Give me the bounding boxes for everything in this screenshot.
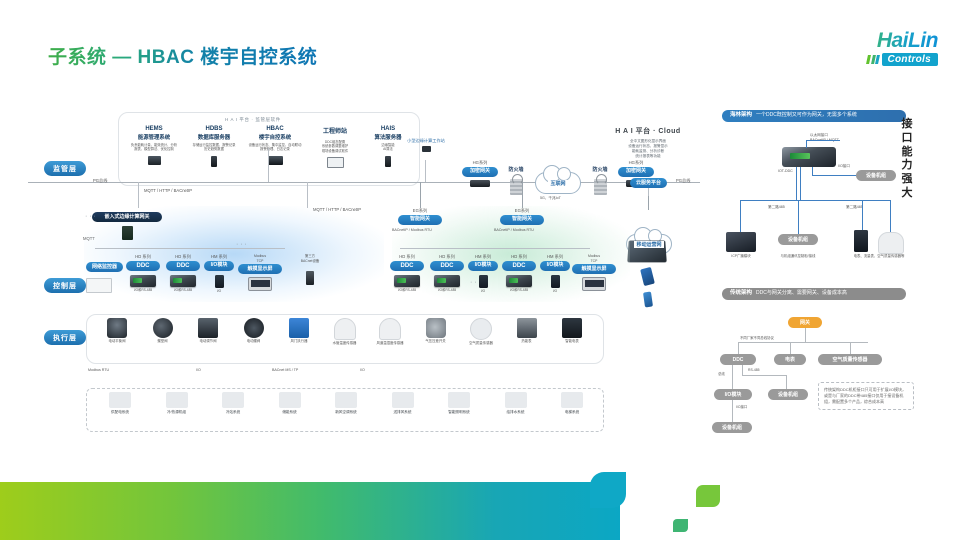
rb-line-unit2 [732,400,733,422]
air-quality-device-icon [878,232,904,254]
control-valve-icon [198,318,218,338]
heat-meter-icon [517,318,537,338]
bottom-gradient-bar [0,482,620,540]
system-item-4[interactable]: 新风空调系统 [318,392,374,415]
io-label-1: I/O模块 [204,261,234,271]
device-unit-node-trad-1: 设备机组 [768,389,808,400]
hd-series-5: HD 系列 [502,254,536,260]
monitor-icon [268,156,283,165]
ddc-label-3: DDC [390,261,424,271]
system-label-3: 储能系统 [262,410,318,415]
system-label-8: 电梯系统 [544,410,600,415]
bacnet-mstp-label: BACnet MS / TP [272,368,298,373]
logo-bars-icon [867,55,879,64]
system-item-2[interactable]: 冷站系统 [205,392,261,415]
duct-temp-sensor-icon [379,318,401,340]
traditional-arch-title: 传统架构 [730,290,752,296]
ddc-node-traditional: DDC [720,354,756,365]
execution-device-2[interactable]: 电动调节阀 [183,318,233,344]
system-label-0: 供配电系统 [92,410,148,415]
damper-actuator-icon [289,318,309,338]
edge-workstation-label: 小型边缘计算工作站 [403,138,449,143]
execution-device-label-8: 空气质量传感器 [456,341,506,346]
controller-box-icon [86,278,112,293]
server-icon [148,156,161,165]
execution-device-6[interactable]: 风道温湿度传感器 [365,318,415,346]
ddc-bus-2: I/O和RS-485 [166,288,200,292]
execution-device-label-5: 水管温度传感器 [320,341,370,346]
ddc-label-1: DDC [126,261,160,271]
icp-broadcast-label: ICP广播模块 [714,254,768,259]
encryption-gateway-left-label: 加密网关 [462,167,498,177]
eg2-uplink [522,182,523,208]
eg1-uplink [420,182,421,208]
rt-line-eth-h [806,140,840,141]
system-item-5[interactable]: 送排风系统 [375,392,431,415]
third-party-label: 第三方 BACnet设备 [292,254,328,263]
modbus-rtu-label: Modbus RTU [88,368,109,373]
ddc-node-3[interactable]: HD 系列 DDC I/O和RS-485 [390,254,424,292]
ahu-icon [335,392,357,408]
meter-device-icon [854,230,868,252]
valve-icon [107,318,127,338]
cloud-platform-pill[interactable]: 云服务平台 [630,178,667,188]
hm-series-3: HM 系列 [540,254,570,260]
io-node-3[interactable]: HM 系列 I/O模块 I/O [540,254,570,293]
embedded-gateway-label: 嵌入式边缘计算网关 [92,212,162,222]
motor-valve-icon [244,318,264,338]
ddc-bus-4: I/O和RS-485 [430,288,464,292]
supervision-panel-header: H A I 平台 · 监管层软件 [225,117,281,123]
system-label-5: 送排风系统 [375,410,431,415]
system-item-6[interactable]: 智能照明系统 [431,392,487,415]
rt-line-io-h [812,175,856,176]
execution-device-1[interactable]: 蝶型阀 [138,318,188,344]
card-hdbs-desc: 存储运行监控数据、报警记录 历史趋势数据 [184,143,244,152]
firewall-right: 防火墙 [584,166,616,195]
card-hems[interactable]: HEMS 能源管理系统 负责能耗计量、能效统计、分析 报表、模型算法、优化控制 [124,126,184,165]
touchscreen-label-2: 触摸显示屏 [572,264,616,274]
pc-bus-label-left: PG总线 [93,178,107,184]
system-label-7: 给排水系统 [488,410,544,415]
hm-series-1: HM 系列 [204,254,234,260]
internet-label: 互联网 [548,180,567,187]
ddc-device-icon-5 [506,275,532,287]
execution-device-label-6: 风道温湿度传感器 [365,341,415,346]
power-supply-icon [109,392,131,408]
card-engineer-desc: DDC组态配置 系统参数调整维护 现场设备调试软件 [306,140,364,153]
io-label-2: I/O模块 [468,261,498,271]
rt-line-leaf3 [862,200,863,234]
rb-line-485v [742,365,743,375]
rb-line-gw [805,328,806,342]
execution-device-label-7: 气压压差开关 [411,339,461,344]
layer-badge-execution: 执行层 [44,330,86,345]
control-branch-right [400,248,590,249]
phone-device-icon [643,292,653,308]
database-icon [211,156,217,167]
hailin-arch-desc: 一个DDC既控制又可作为网关，无需多个系统 [756,112,857,118]
internet-link-label: 5G、千兆IoT [540,196,561,201]
card-hems-name: 能源管理系统 [124,133,184,141]
ddc-node-2[interactable]: HD 系列 DDC I/O和RS-485 [166,254,200,292]
card-hdbs-code: HDBS [184,126,244,132]
deco-square-small [673,519,688,532]
third-party-node[interactable]: 第三方 BACnet设备 [292,254,328,285]
pressure-switch-icon [426,318,446,338]
butterfly-valve-icon [153,318,173,338]
ddc-bus-1: I/O和RS-485 [126,288,160,292]
gateway-node: 网关 [788,317,822,328]
iot-ddc-product-label: IOT-DDC [778,169,793,174]
system-label-6: 智能照明系统 [431,410,487,415]
io-bus-label: I/O [196,368,201,373]
icp-broadcast-icon [726,232,756,252]
encryption-gateway-right-label: 加密网关 [618,167,654,177]
io-module-node: I/O模块 [714,389,752,400]
execution-device-8[interactable]: 空气质量传感器 [456,318,506,346]
io-device-icon-2 [479,275,488,288]
meters-sensors-label: 电表、流量表、空气质量传感器等 [836,254,922,259]
system-label-1: 冷/热源机组 [149,410,205,415]
card-hbac-desc: 设备运行状态、集中监控、自动联动 报警管理、日志记录 [244,143,306,152]
ddc-node-5[interactable]: HD 系列 DDC I/O和RS-485 [502,254,536,292]
edge-device-icon [422,146,431,152]
ddc-label-2: DDC [166,261,200,271]
chiller-icon [166,392,188,408]
card-hbac-name: 楼宇自控系统 [244,133,306,141]
ddc-bus-5: I/O和RS-485 [502,288,536,292]
hg-series-right: HG系列 [618,160,654,166]
device-unit-node-top: 设备机组 [856,170,896,181]
io-bus-label-2: I/O [360,368,365,373]
water-temp-sensor-icon [334,318,356,340]
lighting-icon [448,392,470,408]
hd-series-1: HD 系列 [126,254,160,260]
execution-device-10[interactable]: 智能电表 [547,318,597,344]
iot-ddc-eth-iface: 以太网接口 BACnetIP / MQTT [810,133,839,143]
card-hems-code: HEMS [124,126,184,132]
io-node-1[interactable]: HM 系列 I/O模块 I/O [204,254,234,293]
io-label-3: I/O模块 [540,261,570,271]
execution-device-4[interactable]: 风门执行器 [274,318,324,344]
rb-line-485h [742,375,786,376]
io-node-2[interactable]: HM 系列 I/O模块 I/O [468,254,498,293]
hai-cloud-block: H A I 平台 · Cloud 全中文图形化显示界面 设备运行状态、报警显示 … [600,126,696,158]
execution-device-5[interactable]: 水管温度传感器 [320,318,370,346]
hg-series-left: HG系列 [462,160,498,166]
traditional-note-box: 传统架构DDC机柜接口只可用于扩展I/O模块，或是与厂家的DDC带485接口仅用… [818,382,914,410]
bus-drop-edge [425,160,426,182]
cloud-to-mobile-link [648,196,649,210]
modbus-tcp-1: Modbus TCP [238,254,282,263]
bus-io-label: 总线 [718,372,725,377]
device-unit-node-trad-2: 设备机组 [712,422,752,433]
energy-storage-icon [279,392,301,408]
meter-node: 电表 [774,354,806,365]
card-engineer-station[interactable]: 工程师站 DDC组态配置 系统参数调整维护 现场设备调试软件 [306,126,364,168]
iot-ddc-led-strip [790,153,810,159]
ai-server-icon [385,156,391,167]
system-item-7[interactable]: 给排水系统 [488,392,544,415]
slide-root: 子系统 — HBAC 楼宇自控系统 HaiLin Controls 监管层 控制… [0,0,960,540]
touchscreen-icon-1 [248,277,272,291]
io-device-icon-1 [215,275,224,288]
bus-485-label: RS-485 [748,368,760,373]
ddc-device-icon-1 [130,275,156,287]
execution-device-0[interactable]: 电动平衡阀 [92,318,142,344]
firewall-left: 防火墙 [500,166,532,195]
firewall-icon-right [594,179,607,195]
ddc-bus-3: I/O和RS-485 [390,288,424,292]
device-unit-node-mid: 设备机组 [778,234,818,245]
rb-line-io [732,365,733,389]
eg-protocol-1: BACnetIP / Modbus RTU [392,228,432,233]
card-hdbs-name: 数据库服务器 [184,133,244,141]
ddc-label-5: DDC [502,261,536,271]
elevator-icon [561,392,583,408]
rt-line-eth [806,140,807,148]
ddc-device-icon-2 [170,275,196,287]
hailin-arch-title: 海林架构 [730,112,752,118]
touchscreen-label-1: 触摸显示屏 [238,264,282,274]
ddc-device-icon-3 [394,275,420,287]
ddc-device-icon-4 [434,275,460,287]
touchscreen-node-2[interactable]: Modbus TCP 触摸显示屏 [572,254,616,291]
execution-device-label-0: 电动平衡阀 [92,339,142,344]
card-hems-desc: 负责能耗计量、能效统计、分析 报表、模型算法、优化控制 [124,143,184,152]
execution-device-label-4: 风门执行器 [274,339,324,344]
rb-line-h [738,342,868,343]
laptop-icon [327,157,344,168]
card-hbac-code: HBAC [244,126,306,132]
eg-gateway-1[interactable]: EG系列 智能网关 [398,208,442,225]
execution-device-label-9: 热能表 [502,339,552,344]
gateway-device-icon-left [470,180,490,187]
layer-badge-control: 控制层 [44,278,86,293]
smart-gateway-1-label: 智能网关 [398,215,442,225]
logo-wordmark: HaiLin [814,30,938,51]
smart-meter-icon [562,318,582,338]
bus-drop-left [138,182,139,208]
card-hais-code: HAIS [360,126,416,132]
ddc-node-4[interactable]: HD 系列 DDC I/O和RS-485 [430,254,464,292]
embedded-edge-gateway[interactable]: 嵌入式边缘计算网关 [92,212,162,240]
bus-io2-label: I/O接口 [736,405,747,410]
traditional-arch-desc: DDC与网关分离、需要网关、设备成本高 [756,290,847,296]
deco-square-large [696,485,720,507]
touchscreen-icon-2 [582,277,606,291]
system-item-1[interactable]: 冷/热源机组 [149,392,205,415]
eg-gateway-2[interactable]: EG系列 智能网关 [500,208,544,225]
rb-line-unit [786,375,787,389]
rt-line-leaf2 [798,200,799,234]
bus-drop-mid [307,182,308,208]
iot-ddc-io-iface: I/O接口 [838,164,850,169]
io-bus-2: I/O [468,289,498,293]
tablet-device-icon [640,267,655,286]
control-branch-left [95,248,285,249]
third-party-device-icon [306,271,314,285]
cold-station-icon [222,392,244,408]
execution-device-label-2: 电动调节阀 [183,339,233,344]
traditional-arch-header: 传统架构DDC与网关分离、需要网关、设备成本高 [722,288,906,300]
io-device-icon-3 [551,275,560,288]
system-item-0[interactable]: 供配电系统 [92,392,148,415]
rt-line-bus-v2 [800,167,801,200]
system-label-2: 冷站系统 [205,410,261,415]
system-label-4: 新风空调系统 [318,410,374,415]
ellipsis-left: · · · [85,212,96,221]
rb-line-meter [790,342,791,354]
hai-cloud-title: H A I 平台 · Cloud [600,126,696,136]
embedded-gateway-icon [122,226,133,240]
firewall-right-label: 防火墙 [584,166,616,173]
air-sensor-node: 空气质量传感器 [818,354,882,365]
modbus-tcp-2: Modbus TCP [572,254,616,263]
protocol-label-left: MQTT / HTTP / BACnetIP [144,188,192,194]
water-system-icon [505,392,527,408]
hd-series-2: HD 系列 [166,254,200,260]
hailin-logo: HaiLin Controls [814,30,938,74]
eg-protocol-2: BACnetIP / Modbus RTU [494,228,534,233]
ddc-node-1[interactable]: HD 系列 DDC I/O和RS-485 [126,254,160,292]
air-quality-sensor-icon [470,318,492,340]
deco-leaf-shape [590,472,626,508]
touchscreen-node-1[interactable]: Modbus TCP 触摸显示屏 [238,254,282,291]
hm-series-2: HM 系列 [468,254,498,260]
card-hdbs[interactable]: HDBS 数据库服务器 存储运行监控数据、报警记录 历史趋势数据 [184,126,244,167]
eg-series-1: EG系列 [398,208,442,214]
vertical-slogan: 接口能力强大 [900,118,914,201]
rt-line-bus-v [796,167,797,200]
net-controller-device [86,278,116,293]
eg-series-2: EG系列 [500,208,544,214]
rb-line-ddc [738,342,739,354]
hai-cloud-desc: 全中文图形化显示界面 设备运行状态、报警显示 能耗监测、分析诊断 统计报表等功能 [600,139,696,158]
layer-badge-supervision: 监管层 [44,161,86,176]
io-bus-1: I/O [204,289,234,293]
hailin-arch-header: 海林架构一个DDC既控制又可作为网关，无需多个系统 [722,110,906,122]
smart-gateway-2-label: 智能网关 [500,215,544,225]
net-controller-node[interactable]: 网络监控器 [86,262,123,272]
execution-device-3[interactable]: 电动蝶阀 [229,318,279,344]
ddc-label-4: DDC [430,261,464,271]
rt-line-bus [740,200,890,201]
mobile-cloud-label: 移动运营网 [634,241,663,248]
device-unit-mid-desc: 与机组通讯控制柜/接线 [766,254,830,259]
rb-line-air [850,342,851,354]
card-hbac[interactable]: HBAC 楼宇自控系统 设备运行状态、集中监控、自动联动 报警管理、日志记录 [244,126,306,165]
execution-device-7[interactable]: 气压压差开关 [411,318,461,344]
firewall-icon-left [510,179,523,195]
hd-series-3: HD 系列 [390,254,424,260]
edge-workstation[interactable]: 小型边缘计算工作站 [403,138,449,152]
bus-485-a-label: 第二路485 [768,205,785,210]
execution-device-label-10: 智能电表 [547,339,597,344]
rt-line-leaf1 [740,200,741,234]
rt-line-leaf4 [890,200,891,234]
pc-bus-label-right: PG总线 [676,178,690,184]
ventilation-icon [392,392,414,408]
rt-line-io-v [812,167,813,175]
bus-485-b-label: 第二路485 [846,205,863,210]
execution-device-label-1: 蝶型阀 [138,339,188,344]
net-controller-label: 网络监控器 [86,262,123,272]
io-bus-3: I/O [540,289,570,293]
bus-drop-hbac [268,148,269,182]
page-title: 子系统 — HBAC 楼宇自控系统 [48,42,317,69]
card-engineer-code: 工程师站 [306,126,364,135]
system-item-8[interactable]: 电梯系统 [544,392,600,415]
system-item-3[interactable]: 储能系统 [262,392,318,415]
encryption-gateway-left[interactable]: HG系列 加密网关 [462,160,498,187]
logo-subtext: Controls [882,53,938,66]
execution-device-label-3: 电动蝶阀 [229,339,279,344]
execution-device-9[interactable]: 热能表 [502,318,552,344]
firewall-left-label: 防火墙 [500,166,532,173]
internet-cloud: 互联网 [535,172,581,194]
multi-vendor-note: 不同厂家不同总线协议 [740,336,774,341]
hd-series-4: HD 系列 [430,254,464,260]
traditional-note-text: 传统架构DDC机柜接口只可用于扩展I/O模块，或是与厂家的DDC带485接口仅用… [824,387,906,404]
